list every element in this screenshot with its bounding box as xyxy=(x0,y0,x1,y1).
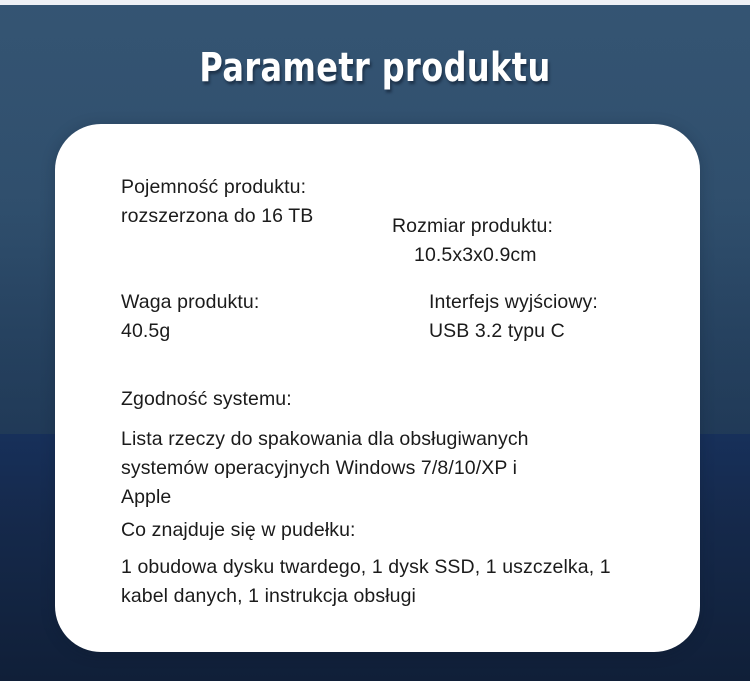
spec-size: Rozmiar produktu: 10.5x3x0.9cm xyxy=(392,183,662,299)
spec-size-value: 10.5x3x0.9cm xyxy=(392,241,662,270)
spec-size-label: Rozmiar produktu: xyxy=(392,215,553,237)
spec-weight: Waga produktu: 40.5g xyxy=(121,288,401,346)
product-parameter-banner: Parametr produktu Pojemność produktu: ro… xyxy=(0,0,750,681)
spec-capacity: Pojemność produktu: rozszerzona do 16 TB xyxy=(121,173,411,231)
spec-interface: Interfejs wyjściowy: USB 3.2 typu C xyxy=(429,288,689,346)
spec-in-the-box-label: Co znajduje się w pudełku: xyxy=(121,516,551,545)
spec-card: Pojemność produktu: rozszerzona do 16 TB… xyxy=(55,124,700,652)
page-title: Parametr produktu xyxy=(75,44,675,92)
spec-in-the-box-value: 1 obudowa dysku twardego, 1 dysk SSD, 1 … xyxy=(121,553,641,611)
spec-compatibility-label: Zgodność systemu: xyxy=(121,385,541,414)
spec-compatibility-value: Lista rzeczy do spakowania dla obsługiwa… xyxy=(121,425,571,512)
